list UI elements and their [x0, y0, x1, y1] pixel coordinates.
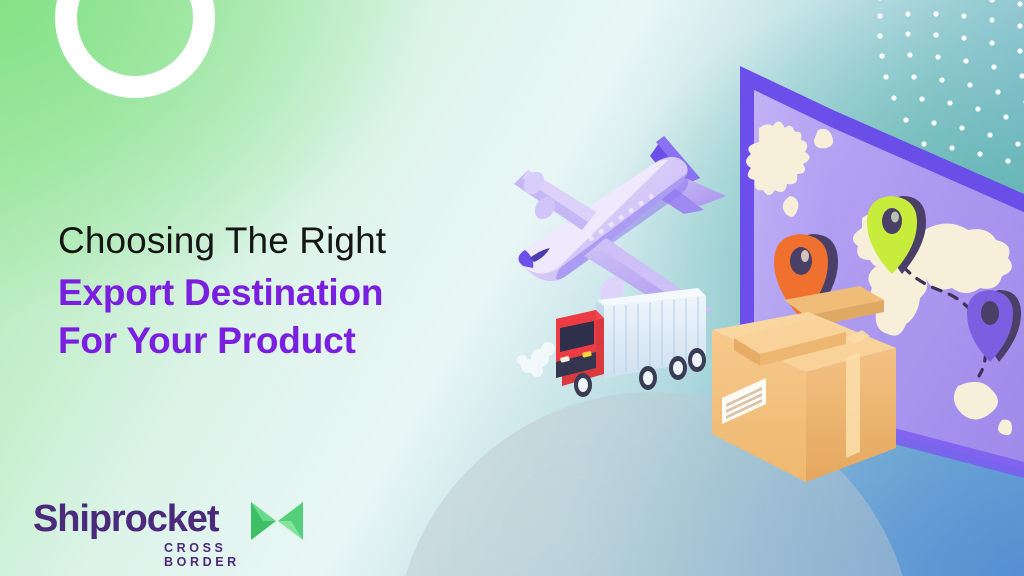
logo-wordmark: Shiprocket — [33, 498, 218, 541]
page-title: Choosing The Right Export Destination Fo… — [58, 219, 528, 362]
headline-line-1: Choosing The Right — [58, 219, 528, 262]
headline-line-2: Export Destination — [58, 271, 528, 314]
logo-tagline: CROSS BORDER — [164, 541, 293, 569]
hero-banner: Choosing The Right Export Destination Fo… — [0, 0, 1024, 576]
x-butterfly-icon — [249, 500, 305, 542]
brand-logo[interactable]: Shiprocket CROSS BORDER — [33, 498, 293, 560]
container-truck-icon — [517, 288, 706, 397]
headline-line-3: For Your Product — [58, 319, 528, 362]
